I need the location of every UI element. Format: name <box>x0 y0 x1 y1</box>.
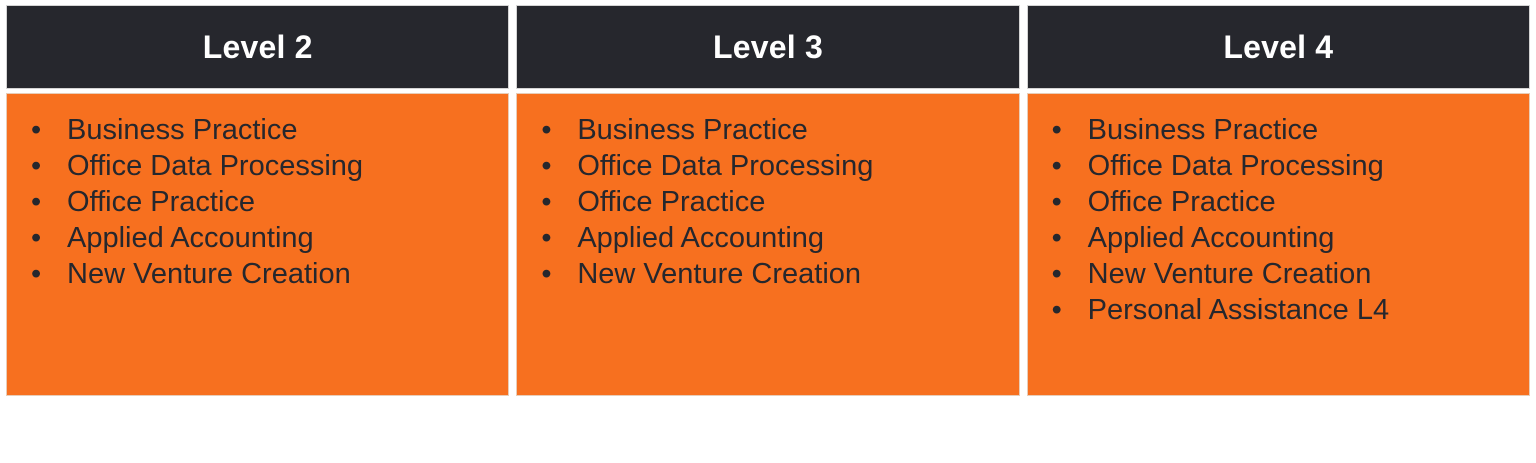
column-header-label: Level 2 <box>203 31 313 63</box>
list-item-label: New Venture Creation <box>577 256 1008 292</box>
columns-container: Level 2 • Business Practice • Office Dat… <box>6 5 1530 396</box>
course-list-level-4: • Business Practice • Office Data Proces… <box>1038 112 1519 328</box>
bullet-dot-icon: • <box>17 256 67 292</box>
list-item-label: Office Data Processing <box>1088 148 1519 184</box>
column-level-2: Level 2 • Business Practice • Office Dat… <box>6 5 509 396</box>
list-item-label: New Venture Creation <box>67 256 498 292</box>
list-item: • New Venture Creation <box>17 256 498 292</box>
list-item: • Office Practice <box>1038 184 1519 220</box>
list-item: • Office Practice <box>527 184 1008 220</box>
column-header-label: Level 3 <box>713 31 823 63</box>
column-header-label: Level 4 <box>1223 31 1333 63</box>
column-body-level-2: • Business Practice • Office Data Proces… <box>6 93 509 396</box>
list-item: • Office Data Processing <box>1038 148 1519 184</box>
list-item: • Applied Accounting <box>1038 220 1519 256</box>
bullet-dot-icon: • <box>17 112 67 148</box>
list-item-label: New Venture Creation <box>1088 256 1519 292</box>
bullet-dot-icon: • <box>527 256 577 292</box>
course-list-level-2: • Business Practice • Office Data Proces… <box>17 112 498 292</box>
list-item: • Office Data Processing <box>527 148 1008 184</box>
list-item-label: Personal Assistance L4 <box>1088 292 1519 328</box>
list-item-label: Applied Accounting <box>577 220 1008 256</box>
bullet-dot-icon: • <box>527 184 577 220</box>
column-body-level-3: • Business Practice • Office Data Proces… <box>516 93 1019 396</box>
list-item: • Applied Accounting <box>17 220 498 256</box>
column-level-4: Level 4 • Business Practice • Office Dat… <box>1027 5 1530 396</box>
bullet-dot-icon: • <box>527 148 577 184</box>
levels-table: Level 2 • Business Practice • Office Dat… <box>0 0 1536 463</box>
list-item-label: Office Practice <box>67 184 498 220</box>
column-header-level-4: Level 4 <box>1027 5 1530 89</box>
list-item-label: Office Data Processing <box>577 148 1008 184</box>
list-item: • Business Practice <box>17 112 498 148</box>
bullet-dot-icon: • <box>527 220 577 256</box>
list-item-label: Business Practice <box>1088 112 1519 148</box>
bullet-dot-icon: • <box>17 184 67 220</box>
column-level-3: Level 3 • Business Practice • Office Dat… <box>516 5 1019 396</box>
list-item-label: Business Practice <box>67 112 498 148</box>
column-header-level-2: Level 2 <box>6 5 509 89</box>
course-list-level-3: • Business Practice • Office Data Proces… <box>527 112 1008 292</box>
list-item: • Business Practice <box>1038 112 1519 148</box>
list-item: • New Venture Creation <box>527 256 1008 292</box>
column-body-level-4: • Business Practice • Office Data Proces… <box>1027 93 1530 396</box>
bullet-dot-icon: • <box>1038 256 1088 292</box>
bullet-dot-icon: • <box>1038 220 1088 256</box>
list-item: • Applied Accounting <box>527 220 1008 256</box>
list-item-label: Office Practice <box>577 184 1008 220</box>
column-header-level-3: Level 3 <box>516 5 1019 89</box>
list-item: • Office Data Processing <box>17 148 498 184</box>
list-item-label: Office Practice <box>1088 184 1519 220</box>
bullet-dot-icon: • <box>1038 292 1088 328</box>
list-item: • New Venture Creation <box>1038 256 1519 292</box>
bullet-dot-icon: • <box>527 112 577 148</box>
list-item-label: Business Practice <box>577 112 1008 148</box>
bullet-dot-icon: • <box>1038 112 1088 148</box>
bullet-dot-icon: • <box>17 148 67 184</box>
bullet-dot-icon: • <box>17 220 67 256</box>
list-item: • Business Practice <box>527 112 1008 148</box>
list-item: • Office Practice <box>17 184 498 220</box>
list-item-label: Applied Accounting <box>1088 220 1519 256</box>
list-item: • Personal Assistance L4 <box>1038 292 1519 328</box>
bullet-dot-icon: • <box>1038 148 1088 184</box>
list-item-label: Applied Accounting <box>67 220 498 256</box>
bullet-dot-icon: • <box>1038 184 1088 220</box>
list-item-label: Office Data Processing <box>67 148 498 184</box>
